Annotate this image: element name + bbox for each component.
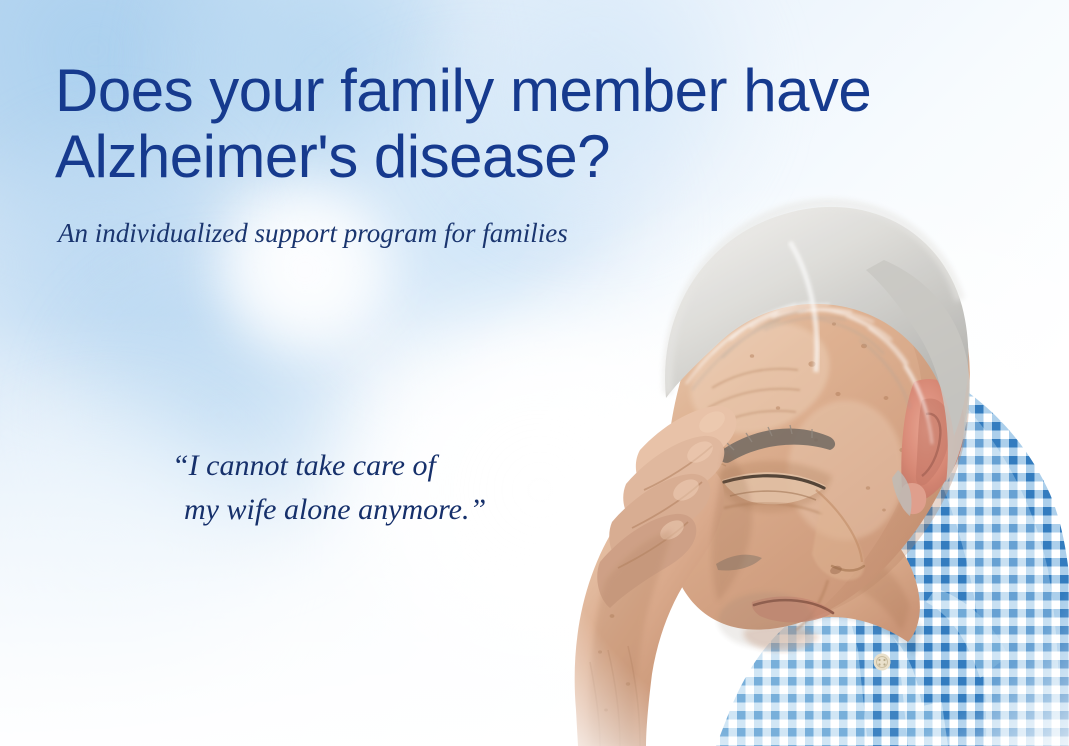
poster: Does your family member have Alzheimer's… <box>0 0 1069 746</box>
elderly-man-photo <box>516 150 1069 746</box>
pull-quote-line-2: my wife alone anymore.” <box>172 488 486 532</box>
pull-quote-line-1: “I cannot take care of <box>172 449 436 482</box>
page-title: Does your family member have Alzheimer's… <box>55 58 871 190</box>
page-subtitle: An individualized support program for fa… <box>58 216 568 250</box>
pull-quote: “I cannot take care of my wife alone any… <box>172 400 486 576</box>
